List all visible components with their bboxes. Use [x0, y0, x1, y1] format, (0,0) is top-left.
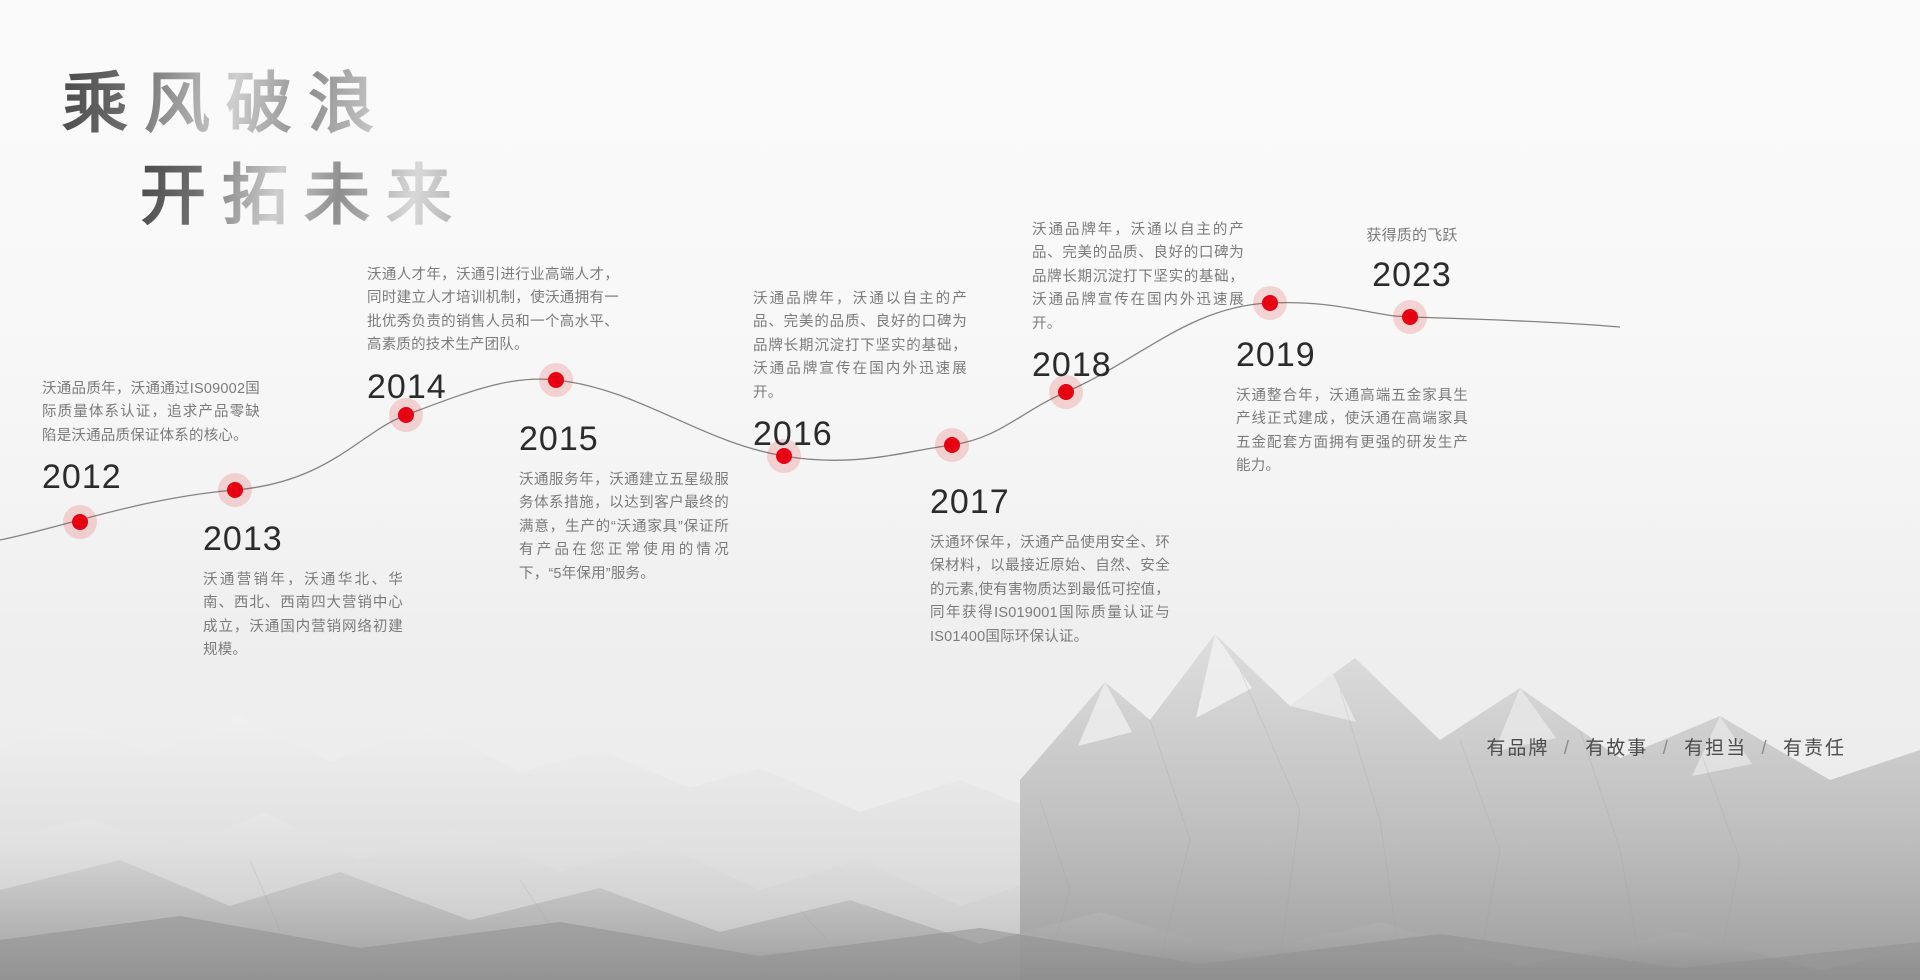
timeline-entry-2013[interactable]: 2013 沃通营销年，沃通华北、华南、西北、西南四大营销中心成立，沃通国内营销网… [203, 522, 403, 663]
slogan-item-3: 有担当 [1684, 738, 1747, 759]
node-dot [1402, 309, 1418, 325]
entry-kicker: 获得质的飞跃 [1330, 224, 1494, 248]
footer-slogan: 有品牌 / 有故事 / 有担当 / 有责任 [1486, 733, 1846, 760]
slogan-separator: / [1761, 738, 1768, 759]
entry-year: 2013 [203, 522, 403, 556]
timeline-node-2019[interactable] [1253, 286, 1287, 320]
node-dot [398, 407, 414, 423]
node-dot [1058, 384, 1074, 400]
entry-description: 沃通整合年，沃通高端五金家具生产线正式建成，使沃通在高端家具五金配套方面拥有更强… [1236, 385, 1468, 479]
node-dot [72, 514, 88, 530]
entry-description: 沃通品质年，沃通通过IS09002国际质量体系认证，追求产品零缺陷是沃通品质保证… [42, 378, 260, 448]
entry-year: 2014 [367, 370, 619, 404]
entry-description: 沃通品牌年，沃通以自主的产品、完美的品质、良好的口碑为品牌长期沉淀打下坚实的基础… [1032, 219, 1244, 336]
node-dot [1262, 295, 1278, 311]
timeline-node-2012[interactable] [63, 505, 97, 539]
slogan-item-2: 有故事 [1585, 738, 1648, 759]
entry-year: 2015 [519, 422, 729, 456]
slide-canvas: 乘风破浪 开拓未来 沃通品质年 [0, 0, 1920, 980]
slogan-separator: / [1564, 738, 1571, 759]
entry-description: 沃通环保年，沃通产品使用安全、环保材料，以最接近原始、自然、安全的元素,使有害物… [930, 532, 1170, 649]
timeline-entry-2023[interactable]: 获得质的飞跃 2023 [1330, 224, 1494, 292]
slogan-item-1: 有品牌 [1486, 738, 1549, 759]
timeline-entry-2019[interactable]: 2019 沃通整合年，沃通高端五金家具生产线正式建成，使沃通在高端家具五金配套方… [1236, 338, 1468, 479]
entry-description: 沃通营销年，沃通华北、华南、西北、西南四大营销中心成立，沃通国内营销网络初建规模… [203, 569, 403, 663]
slogan-separator: / [1663, 738, 1670, 759]
entry-description: 沃通服务年，沃通建立五星级服务体系措施，以达到客户最终的满意，生产的“沃通家具”… [519, 469, 729, 586]
timeline-entry-2017[interactable]: 2017 沃通环保年，沃通产品使用安全、环保材料，以最接近原始、自然、安全的元素… [930, 485, 1170, 649]
headline-line-1: 乘风破浪 [62, 66, 468, 144]
timeline-entry-2015[interactable]: 2015 沃通服务年，沃通建立五星级服务体系措施，以达到客户最终的满意，生产的“… [519, 422, 729, 586]
entry-year: 2023 [1330, 258, 1494, 292]
page-title: 乘风破浪 开拓未来 [62, 66, 468, 236]
entry-year: 2012 [42, 460, 260, 494]
timeline-entry-2012[interactable]: 沃通品质年，沃通通过IS09002国际质量体系认证，追求产品零缺陷是沃通品质保证… [42, 378, 260, 494]
entry-year: 2016 [753, 417, 967, 451]
headline-line-2: 开拓未来 [140, 158, 468, 236]
timeline-entry-2018[interactable]: 沃通品牌年，沃通以自主的产品、完美的品质、良好的口碑为品牌长期沉淀打下坚实的基础… [1032, 219, 1244, 382]
entry-year: 2019 [1236, 338, 1468, 372]
entry-description: 沃通品牌年，沃通以自主的产品、完美的品质、良好的口碑为品牌长期沉淀打下坚实的基础… [753, 288, 967, 405]
timeline-node-2023[interactable] [1393, 300, 1427, 334]
slogan-item-4: 有责任 [1783, 738, 1846, 759]
entry-year: 2018 [1032, 348, 1244, 382]
timeline-entry-2014[interactable]: 沃通人才年，沃通引进行业高端人才，同时建立人才培训机制，使沃通拥有一批优秀负责的… [367, 264, 619, 404]
timeline-entry-2016[interactable]: 沃通品牌年，沃通以自主的产品、完美的品质、良好的口碑为品牌长期沉淀打下坚实的基础… [753, 288, 967, 451]
entry-description: 沃通人才年，沃通引进行业高端人才，同时建立人才培训机制，使沃通拥有一批优秀负责的… [367, 264, 619, 358]
entry-year: 2017 [930, 485, 1170, 519]
